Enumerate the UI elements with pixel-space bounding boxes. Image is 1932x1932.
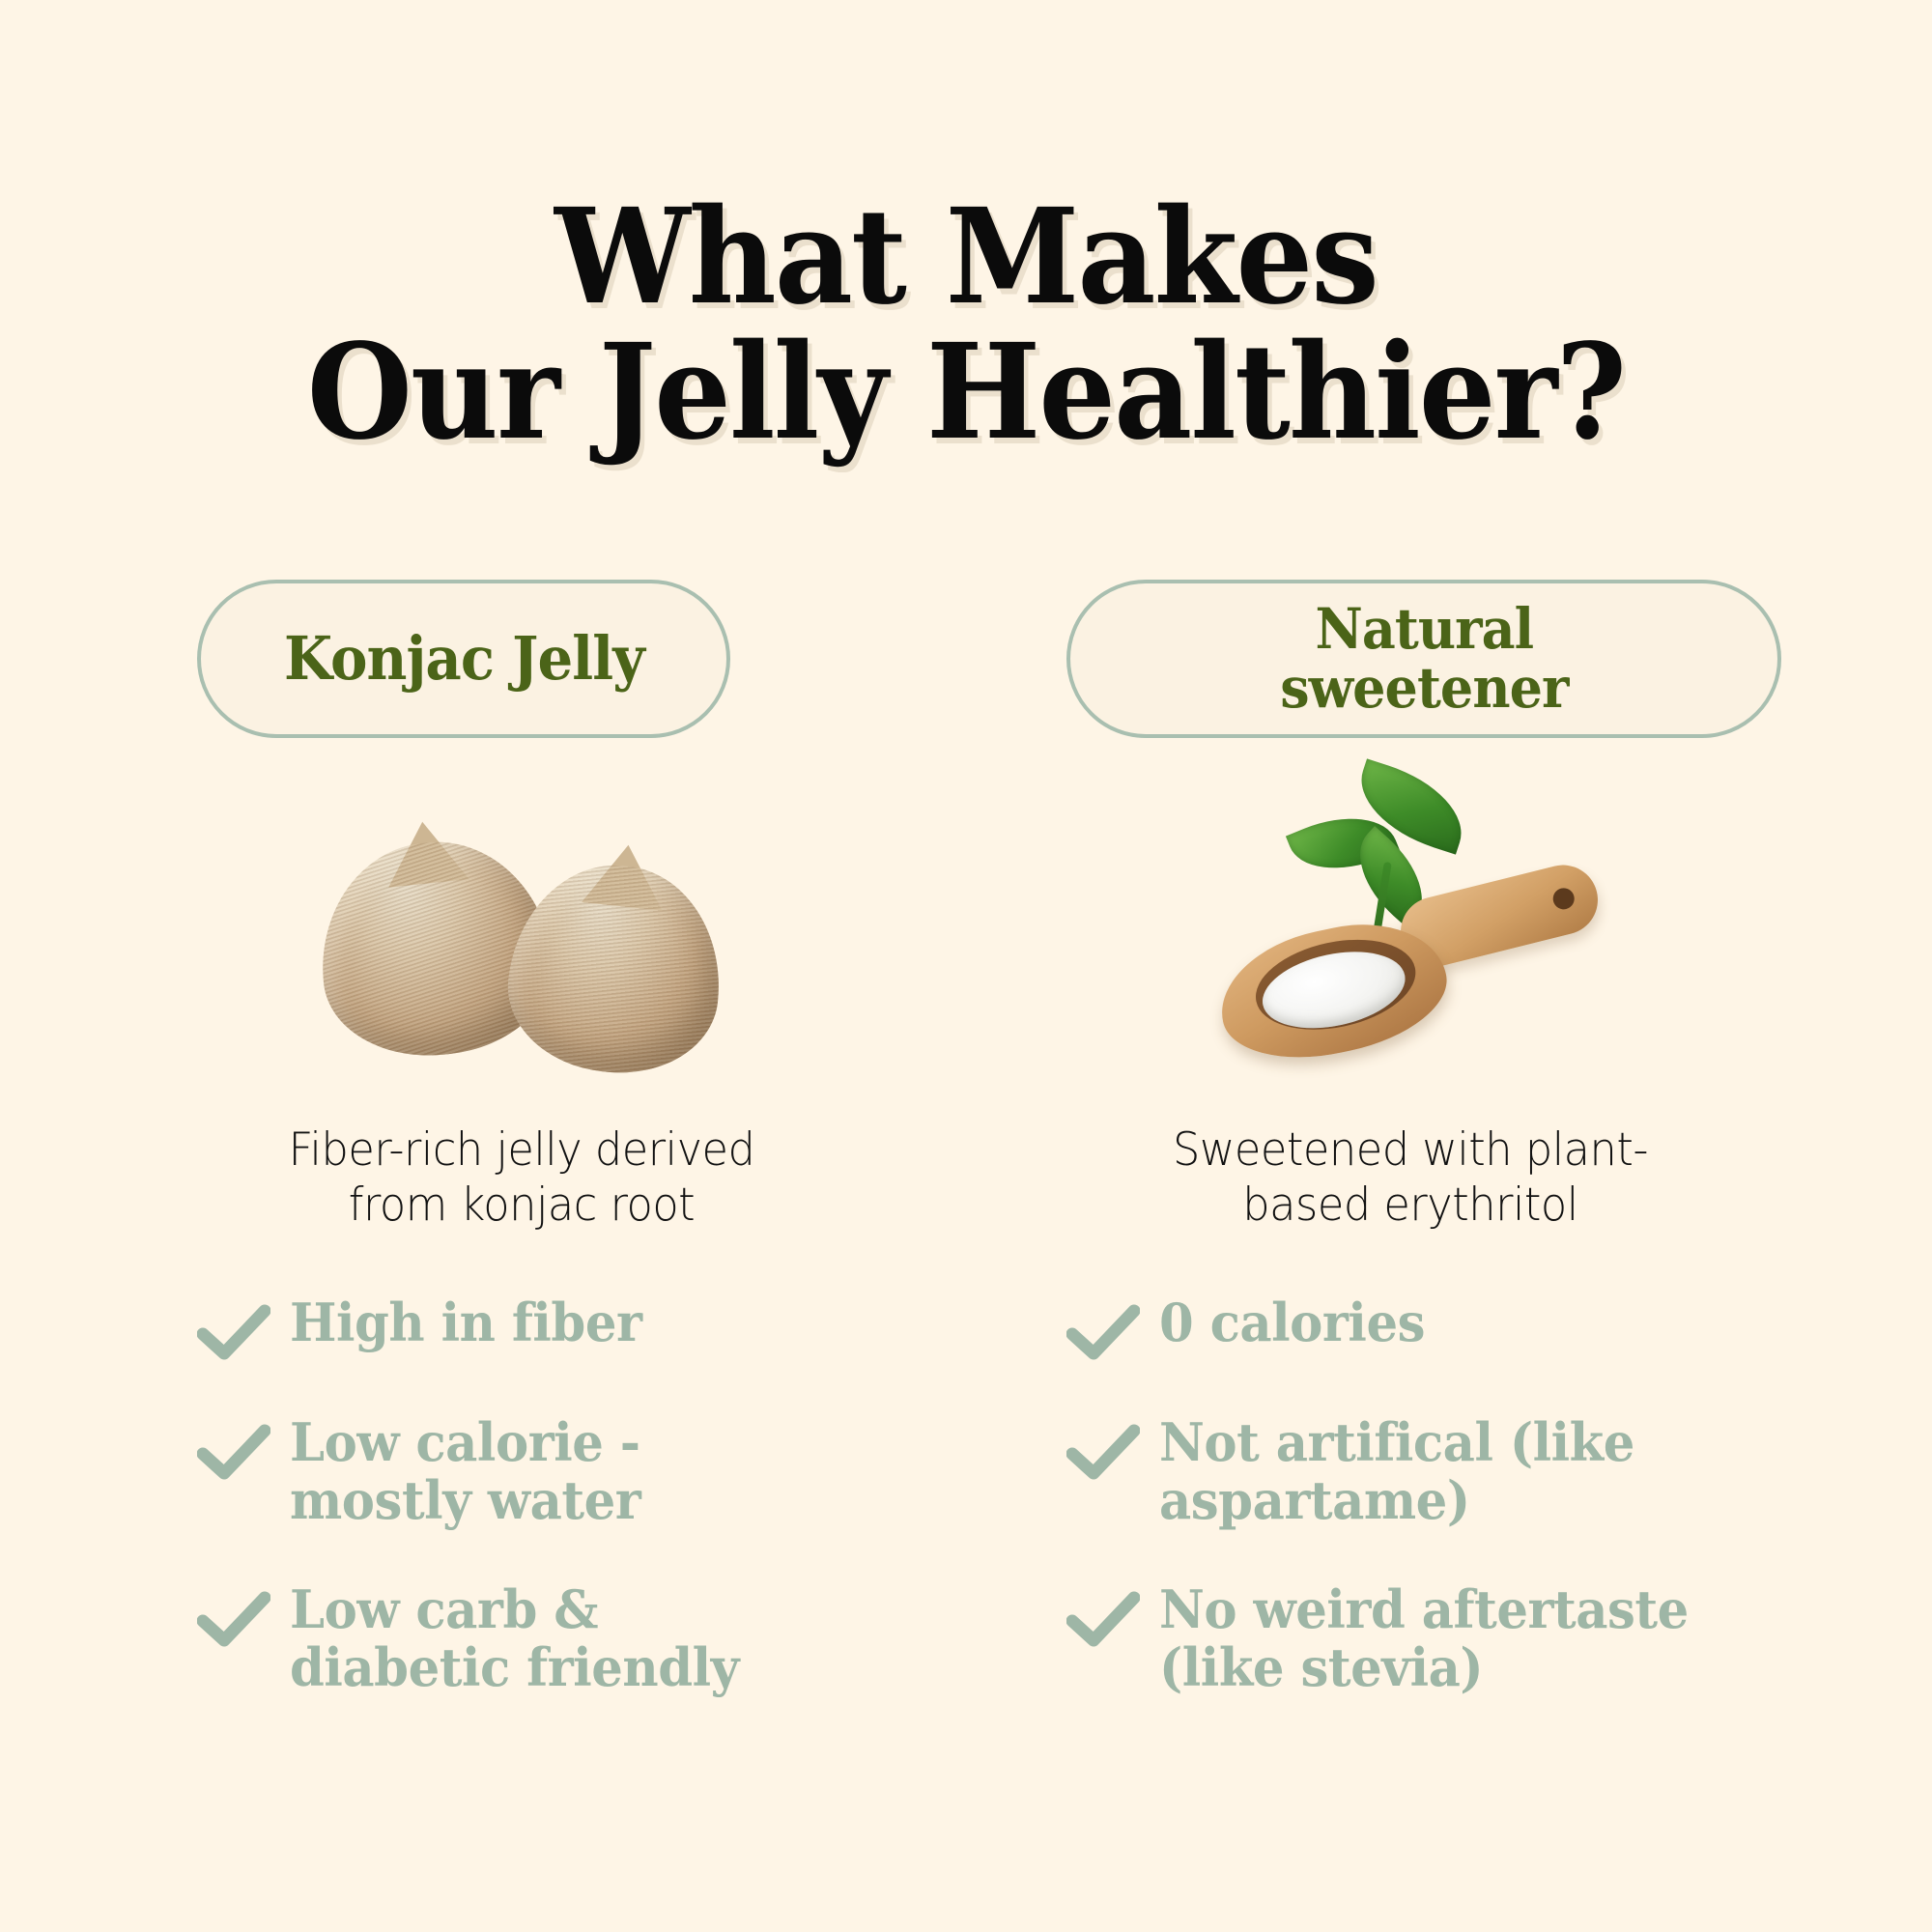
benefit-text-line-1: 0 calories bbox=[1159, 1292, 1425, 1353]
benefit-text-line-1: High in fiber bbox=[290, 1292, 642, 1353]
erythritol-crystals bbox=[1256, 940, 1412, 1040]
benefit-item: Low carb & diabetic friendly bbox=[197, 1580, 889, 1697]
benefit-text: Low carb & diabetic friendly bbox=[290, 1580, 739, 1697]
konjac-root-illustration bbox=[321, 813, 726, 1082]
column-konjac-jelly: Konjac Jelly Fiber-rich jelly derived fr… bbox=[155, 580, 889, 1747]
column-natural-sweetener: Natural sweetener bbox=[1043, 580, 1777, 1747]
description-line-1: Sweetened with plant- bbox=[1062, 1122, 1759, 1178]
benefit-text-line-1: No weird aftertaste bbox=[1159, 1580, 1689, 1638]
benefit-text-line-2: diabetic friendly bbox=[290, 1638, 739, 1696]
pill-label-line-1: Natural bbox=[1280, 600, 1568, 659]
pill-header-natural-sweetener: Natural sweetener bbox=[1066, 580, 1781, 738]
infographic-canvas: What Makes Our Jelly Healthier? Konjac J… bbox=[0, 0, 1932, 1932]
check-icon bbox=[1066, 1423, 1140, 1483]
benefit-list-natural-sweetener: 0 calories Not artifical (like aspartame… bbox=[1066, 1293, 1777, 1697]
benefit-text: Not artifical (like aspartame) bbox=[1159, 1413, 1634, 1530]
scoop-bowl-interior bbox=[1247, 926, 1424, 1043]
benefit-item: High in fiber bbox=[197, 1293, 889, 1363]
description-line-2: from konjac root bbox=[173, 1178, 870, 1233]
page-title-line-1: What Makes bbox=[77, 189, 1855, 325]
description-line-1: Fiber-rich jelly derived bbox=[173, 1122, 870, 1178]
scoop-illustration bbox=[1209, 769, 1634, 1113]
page-title: What Makes Our Jelly Healthier? bbox=[0, 189, 1932, 460]
konjac-root-image bbox=[155, 769, 889, 1117]
check-icon bbox=[1066, 1303, 1140, 1363]
pill-label-line-1: Konjac Jelly bbox=[284, 629, 644, 689]
check-icon bbox=[197, 1423, 270, 1483]
benefit-text-line-2: mostly water bbox=[290, 1471, 640, 1529]
benefit-item: 0 calories bbox=[1066, 1293, 1777, 1363]
page-title-line-2: Our Jelly Healthier? bbox=[77, 325, 1855, 460]
benefit-item: No weird aftertaste (like stevia) bbox=[1066, 1580, 1777, 1697]
benefit-text-line-1: Low calorie - bbox=[290, 1413, 640, 1471]
scoop-handle-hole bbox=[1550, 886, 1577, 912]
benefit-text-line-1: Low carb & bbox=[290, 1580, 739, 1638]
benefit-text-line-2: aspartame) bbox=[1159, 1471, 1634, 1529]
sweetener-scoop-image bbox=[1043, 769, 1777, 1117]
benefit-text-line-1: Not artifical (like bbox=[1159, 1413, 1634, 1471]
konjac-root-right bbox=[499, 855, 730, 1083]
check-icon bbox=[197, 1303, 270, 1363]
description-natural-sweetener: Sweetened with plant- based erythritol bbox=[1062, 1122, 1759, 1234]
pill-header-konjac-jelly: Konjac Jelly bbox=[197, 580, 730, 738]
benefit-text: No weird aftertaste (like stevia) bbox=[1159, 1580, 1689, 1697]
pill-label-line-2: sweetener bbox=[1280, 659, 1568, 718]
pill-label-natural-sweetener: Natural sweetener bbox=[1280, 600, 1568, 718]
benefit-text: High in fiber bbox=[290, 1293, 642, 1351]
description-konjac-jelly: Fiber-rich jelly derived from konjac roo… bbox=[173, 1122, 870, 1234]
benefit-text: Low calorie - mostly water bbox=[290, 1413, 640, 1530]
description-line-2: based erythritol bbox=[1062, 1178, 1759, 1233]
benefit-item: Low calorie - mostly water bbox=[197, 1413, 889, 1530]
benefit-text-line-2: (like stevia) bbox=[1159, 1638, 1689, 1696]
benefit-list-konjac-jelly: High in fiber Low calorie - mostly water… bbox=[197, 1293, 889, 1697]
benefit-text: 0 calories bbox=[1159, 1293, 1425, 1351]
benefit-item: Not artifical (like aspartame) bbox=[1066, 1413, 1777, 1530]
pill-label-konjac-jelly: Konjac Jelly bbox=[284, 629, 644, 689]
check-icon bbox=[1066, 1590, 1140, 1650]
check-icon bbox=[197, 1590, 270, 1650]
